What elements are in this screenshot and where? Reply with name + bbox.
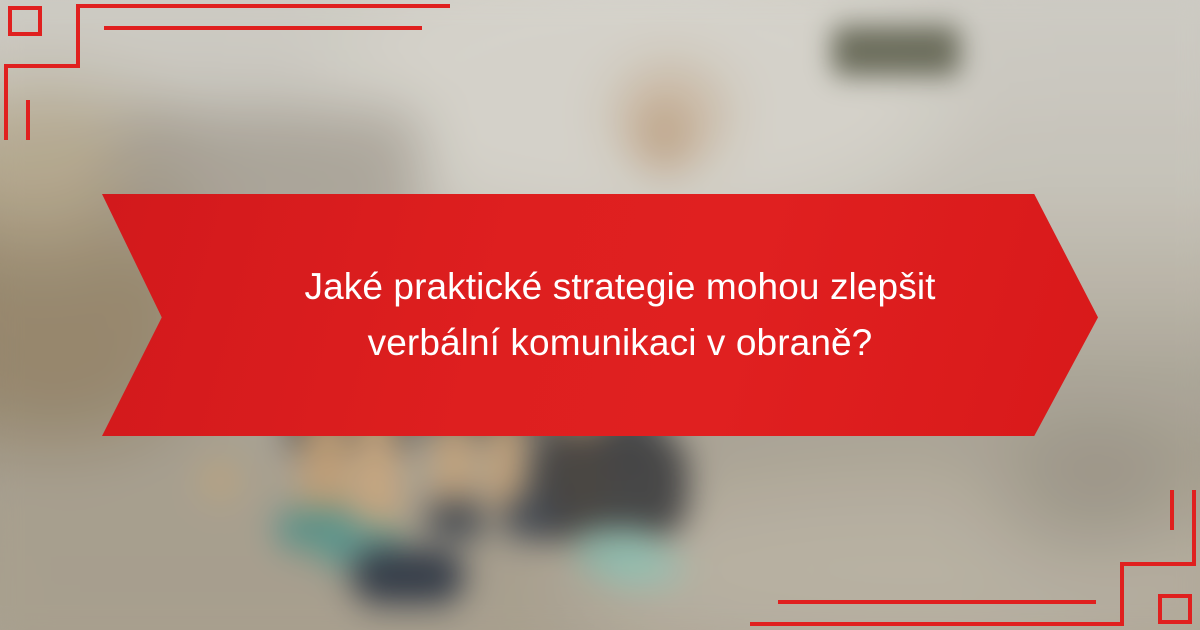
ornament-line-horizontal-inner (778, 600, 1096, 604)
banner-canvas: Jaké praktické strategie mohou zlepšit v… (0, 0, 1200, 630)
ornament-line-vertical-outer (76, 4, 80, 68)
ornament-line-horizontal-join (4, 64, 80, 68)
ornament-line-vertical-outer (1120, 562, 1124, 626)
ornament-line-vertical-2 (1170, 490, 1174, 530)
ornament-line-horizontal-outer (78, 4, 450, 8)
headline-ribbon: Jaké praktické strategie mohou zlepšit v… (102, 194, 1098, 436)
ornament-line-horizontal-join (1120, 562, 1196, 566)
ornament-line-vertical-1 (4, 64, 8, 140)
corner-ornament-bottom-right (1030, 480, 1200, 630)
page-title: Jaké praktické strategie mohou zlepšit v… (212, 259, 1028, 371)
ornament-square-icon (8, 6, 42, 36)
ornament-line-vertical-1 (1192, 490, 1196, 566)
headline-ribbon-inner: Jaké praktické strategie mohou zlepšit v… (102, 259, 1098, 371)
ornament-line-horizontal-outer (750, 622, 1122, 626)
ornament-square-icon (1158, 594, 1192, 624)
corner-ornament-top-left (0, 0, 170, 150)
ornament-line-horizontal-inner (104, 26, 422, 30)
ornament-line-vertical-2 (26, 100, 30, 140)
